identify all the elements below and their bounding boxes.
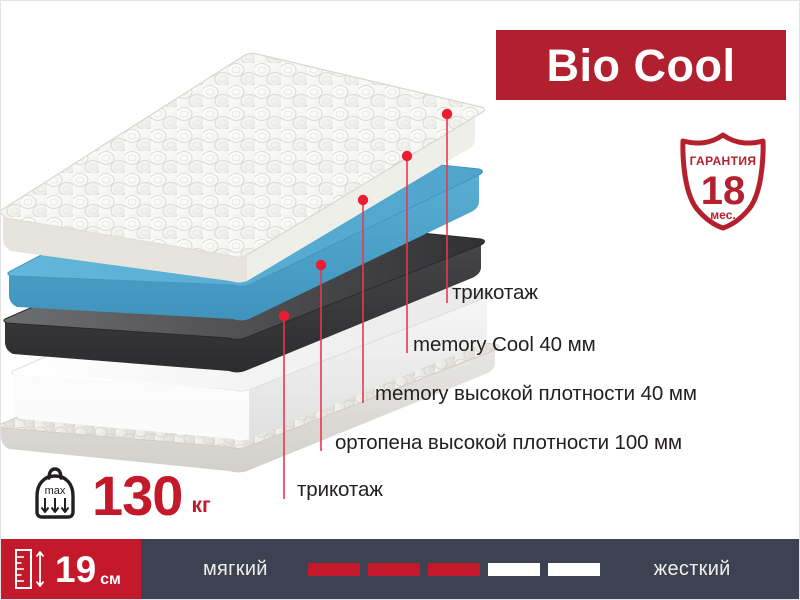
height-block: 19 см bbox=[1, 539, 141, 599]
layer-label-2: memory высокой плотности 40 мм bbox=[375, 382, 697, 406]
firmness-block: мягкий жесткий bbox=[141, 539, 800, 599]
warranty-value: 18 bbox=[701, 169, 746, 213]
firmness-hard-label: жесткий bbox=[654, 558, 731, 581]
firmness-segment-2 bbox=[368, 563, 420, 576]
max-weight-unit: кг bbox=[191, 495, 210, 516]
firmness-soft-label: мягкий bbox=[203, 558, 268, 581]
height-value: 19 bbox=[55, 551, 96, 588]
height-unit: см bbox=[100, 571, 121, 589]
layer-label-4: трикотаж bbox=[297, 478, 383, 502]
warranty-unit: мес. bbox=[710, 208, 735, 222]
firmness-segment-5 bbox=[548, 563, 600, 576]
layer-label-0: трикотаж bbox=[452, 281, 538, 305]
svg-text:max: max bbox=[45, 485, 66, 497]
layer-label-3: ортопена высокой плотности 100 мм bbox=[335, 431, 682, 455]
product-infographic: Bio Cool ГАРАНТИЯ 18 мес. трикотаж memor… bbox=[0, 0, 800, 600]
mattress-layers-illustration bbox=[0, 19, 515, 479]
brand-plate: Bio Cool bbox=[496, 30, 786, 100]
warranty-shield-badge: ГАРАНТИЯ 18 мес. bbox=[677, 131, 769, 231]
warranty-top-label: ГАРАНТИЯ bbox=[690, 154, 757, 168]
firmness-scale bbox=[308, 563, 608, 576]
layer-label-1: memory Cool 40 мм bbox=[413, 333, 596, 357]
ruler-icon bbox=[14, 547, 48, 591]
max-weight-value: 130 bbox=[92, 470, 182, 522]
footer-bar: 19 см мягкий жесткий bbox=[1, 539, 800, 599]
max-weight-block: max 130 кг bbox=[31, 464, 211, 522]
firmness-segment-1 bbox=[308, 563, 360, 576]
firmness-segment-4 bbox=[488, 563, 540, 576]
kettlebell-weight-icon: max bbox=[31, 464, 79, 522]
firmness-segment-3 bbox=[428, 563, 480, 576]
brand-name: Bio Cool bbox=[547, 43, 736, 88]
